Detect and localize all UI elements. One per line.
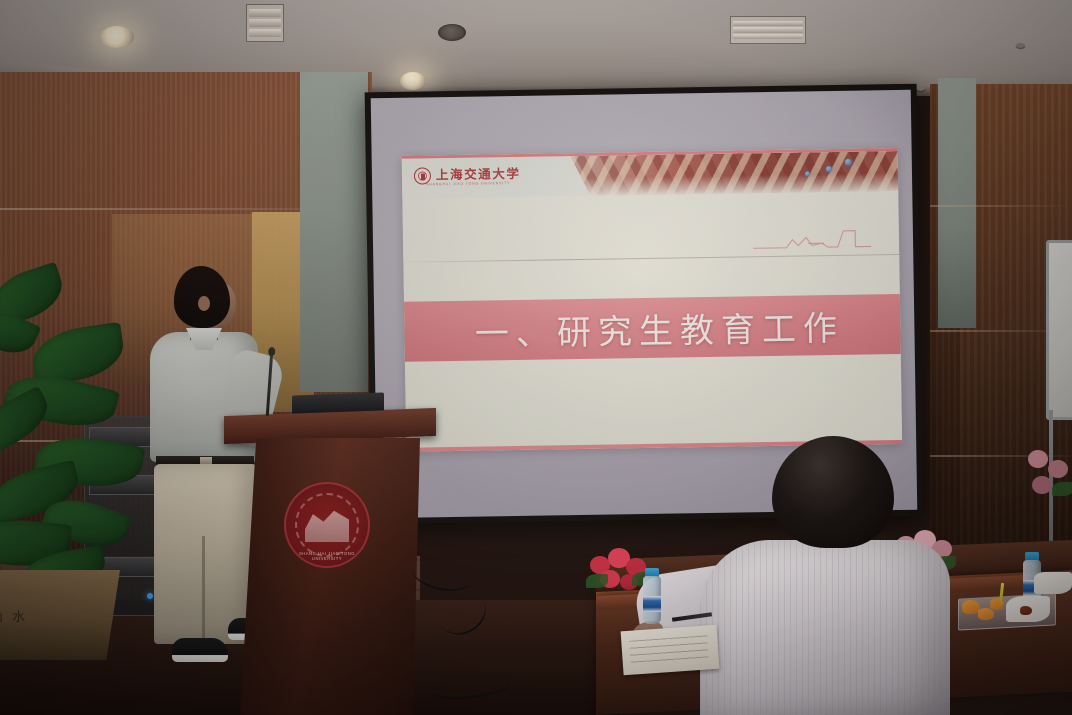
recessed-downlight [438, 24, 466, 41]
header-dot [805, 171, 810, 176]
header-dot [826, 166, 832, 172]
sjtu-logo-text-cn: 上海交通大学 [436, 168, 521, 182]
attendee-head [772, 436, 894, 548]
napkin [1034, 572, 1072, 594]
presenter-shoe [172, 638, 228, 662]
flower-bloom [1028, 450, 1048, 468]
slide-divider [403, 254, 899, 263]
emblem-label-en: SHANG HAI JIAO TONG UNIVERSITY [286, 551, 368, 561]
recessed-downlight [400, 72, 426, 90]
slide-section-title: 一、研究生教育工作 [461, 300, 845, 355]
presentation-slide: 上海交通大学 SHANGHAI JIAO TONG UNIVERSITY 一、研… [402, 148, 903, 452]
notepad [621, 625, 720, 676]
ceiling-light-grille [246, 4, 284, 42]
flower-bloom [1032, 476, 1052, 494]
presenter-leg-seam [202, 536, 205, 646]
flower-leaf [1052, 482, 1072, 496]
header-dot [845, 159, 852, 166]
sprinkler-head [916, 86, 925, 91]
presenter-ear [198, 296, 210, 311]
conference-room-photo: 上海交通大学 SHANGHAI JIAO TONG UNIVERSITY 一、研… [0, 0, 1072, 715]
ceiling-light-grille [730, 16, 806, 44]
podium-shading [240, 438, 420, 715]
slide-header-banner: 上海交通大学 SHANGHAI JIAO TONG UNIVERSITY [402, 151, 899, 199]
wall-pillar-right [938, 78, 976, 328]
water-bottle [642, 568, 664, 626]
wall-pillar [300, 72, 368, 392]
flower-bloom [1048, 460, 1068, 478]
attendee-shirt [700, 540, 950, 715]
seated-attendee [690, 436, 970, 715]
fruit-slice [978, 608, 994, 620]
slide-title-band: 一、研究生教育工作 [404, 294, 901, 362]
wall-panel-seam [930, 205, 1072, 207]
flower-leaf [586, 574, 608, 588]
sjtu-emblem-icon: SHANG HAI JIAO TONG UNIVERSITY [284, 482, 370, 568]
header-photo-texture [570, 151, 898, 196]
laptop [292, 392, 384, 413]
planter-inscription: 山水 [0, 606, 100, 625]
whiteboard [1046, 240, 1072, 420]
flower-arrangement [1022, 446, 1072, 510]
podium: SHANG HAI JIAO TONG UNIVERSITY [224, 412, 436, 715]
emblem-anvil-glyph [305, 508, 349, 542]
potted-plant: 山水 [0, 270, 174, 640]
skyline-line-art [753, 222, 871, 250]
recessed-downlight [100, 26, 134, 48]
sprinkler-head [1016, 43, 1025, 48]
bottle-label [643, 596, 661, 612]
date-snack [1020, 606, 1032, 615]
